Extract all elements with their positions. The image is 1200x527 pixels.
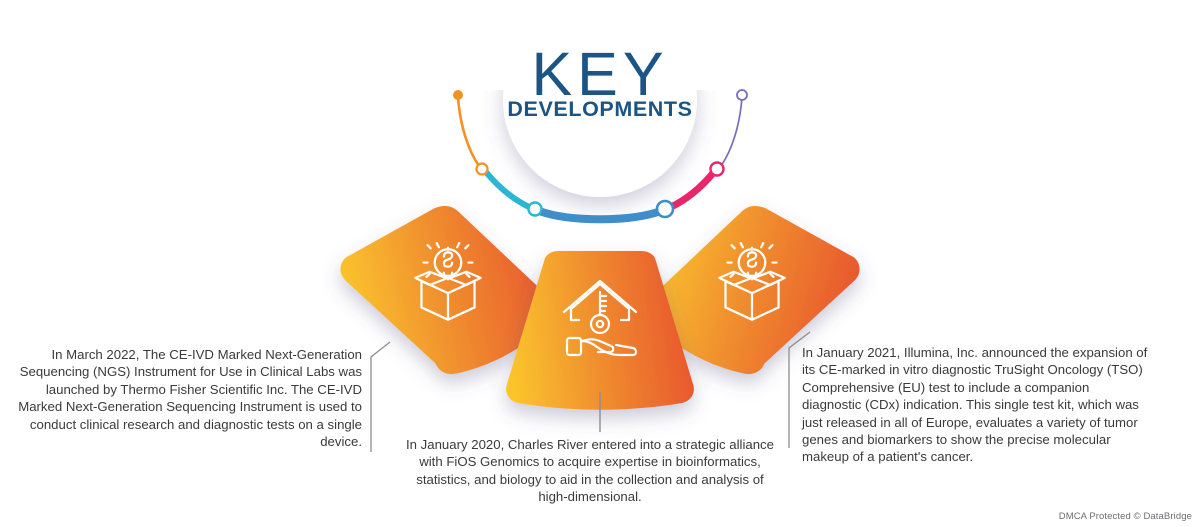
infographic-canvas: KEY DEVELOPMENTS In March 2022, The CE-I… — [0, 0, 1200, 527]
title-line-developments: DEVELOPMENTS — [507, 99, 692, 121]
money-box-idea-icon-right — [719, 243, 784, 319]
node-cyan-blue[interactable] — [529, 203, 542, 216]
node-purple-end[interactable] — [737, 90, 747, 100]
arc-segment-cyan — [486, 172, 531, 208]
title-disc-top-mask — [470, 0, 730, 90]
money-box-idea-icon-left — [415, 243, 480, 319]
title-disc — [503, 3, 697, 197]
dmca-footer: DMCA Protected © DataBridge — [1059, 511, 1192, 522]
hand-house-key-icon — [564, 281, 636, 355]
arc-segment-orange — [458, 97, 479, 166]
petal-left[interactable] — [338, 202, 558, 378]
node-orange-cyan[interactable] — [477, 164, 488, 175]
blurb-right: In January 2021, Illumina, Inc. announce… — [802, 344, 1150, 466]
connector-left — [371, 342, 390, 452]
page-title: KEY DEVELOPMENTS — [455, 8, 745, 193]
blurb-left: In March 2022, The CE-IVD Marked Next-Ge… — [0, 346, 362, 450]
title-line-key: KEY — [507, 46, 692, 102]
blurb-center: In January 2020, Charles River entered i… — [404, 436, 776, 506]
arc-segment-pink — [669, 172, 714, 208]
node-orange-start[interactable] — [453, 90, 463, 100]
node-pink-purple[interactable] — [711, 163, 724, 176]
petal-center[interactable] — [506, 251, 694, 410]
arc-segment-purple — [721, 97, 742, 166]
node-blue-pink[interactable] — [657, 201, 673, 217]
arc-segment-blue — [539, 211, 661, 219]
